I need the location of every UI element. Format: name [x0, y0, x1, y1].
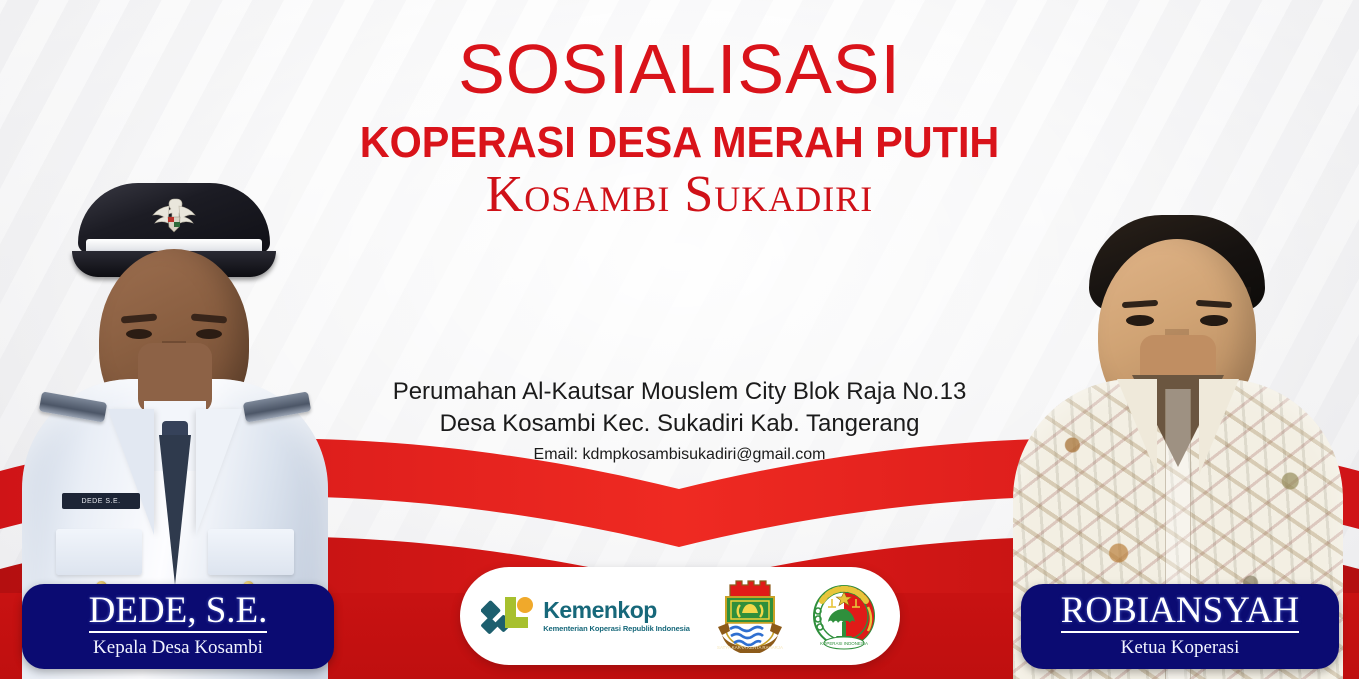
garuda-emblem-icon	[146, 195, 202, 237]
kemenkop-title: Kemenkop	[543, 599, 690, 622]
eyebrow-right	[1196, 300, 1232, 308]
eyebrow-left	[1122, 300, 1158, 308]
kemenkop-subtitle: Kementerian Koperasi Republik Indonesia	[543, 625, 690, 633]
nameplate-left: DEDE, S.E. Kepala Desa Kosambi	[22, 584, 334, 669]
eyebrow-right	[191, 313, 227, 323]
eye-right	[1200, 315, 1228, 326]
eye-right	[196, 329, 222, 339]
uniform-pocket-right	[208, 529, 294, 575]
sosialisasi-banner: DEDE S.E. SOSIALISASI KOPERASI DESA M	[0, 0, 1359, 679]
address-line-2: Desa Kosambi Kec. Sukadiri Kab. Tangeran…	[0, 408, 1359, 440]
eye-left	[126, 329, 152, 339]
nameplate-left-name: DEDE, S.E.	[89, 592, 268, 633]
address-email: Email: kdmpkosambisukadiri@gmail.com	[0, 443, 1359, 467]
tangerang-regency-seal: SATYA KARYA KERTA RAHARJA	[716, 579, 784, 653]
eye-left	[1126, 315, 1154, 326]
kemenkop-wordmark: Kemenkop Kementerian Koperasi Republik I…	[543, 599, 690, 633]
kemenkop-logo: Kemenkop Kementerian Koperasi Republik I…	[481, 593, 690, 639]
address-line-1: Perumahan Al-Kautsar Mouslem City Blok R…	[0, 376, 1359, 408]
nameplate-right: ROBIANSYAH Ketua Koperasi	[1021, 584, 1339, 669]
koperasi-indonesia-seal: KOPERASI INDONESIA	[810, 579, 878, 653]
nameplate-left-role: Kepala Desa Kosambi	[42, 638, 314, 659]
tangerang-motto: SATYA KARYA KERTA RAHARJA	[717, 645, 783, 650]
logo-panel: Kemenkop Kementerian Koperasi Republik I…	[460, 567, 900, 665]
nameplate-right-name: ROBIANSYAH	[1061, 592, 1299, 633]
koperasi-motto: KOPERASI INDONESIA	[820, 641, 868, 646]
uniform-name-tag: DEDE S.E.	[62, 493, 140, 509]
nameplate-right-role: Ketua Koperasi	[1041, 638, 1319, 659]
uniform-pocket-left	[56, 529, 142, 575]
eyebrow-left	[121, 313, 157, 323]
address-block: Perumahan Al-Kautsar Mouslem City Blok R…	[0, 376, 1359, 467]
kemenkop-mark-icon	[481, 593, 535, 639]
